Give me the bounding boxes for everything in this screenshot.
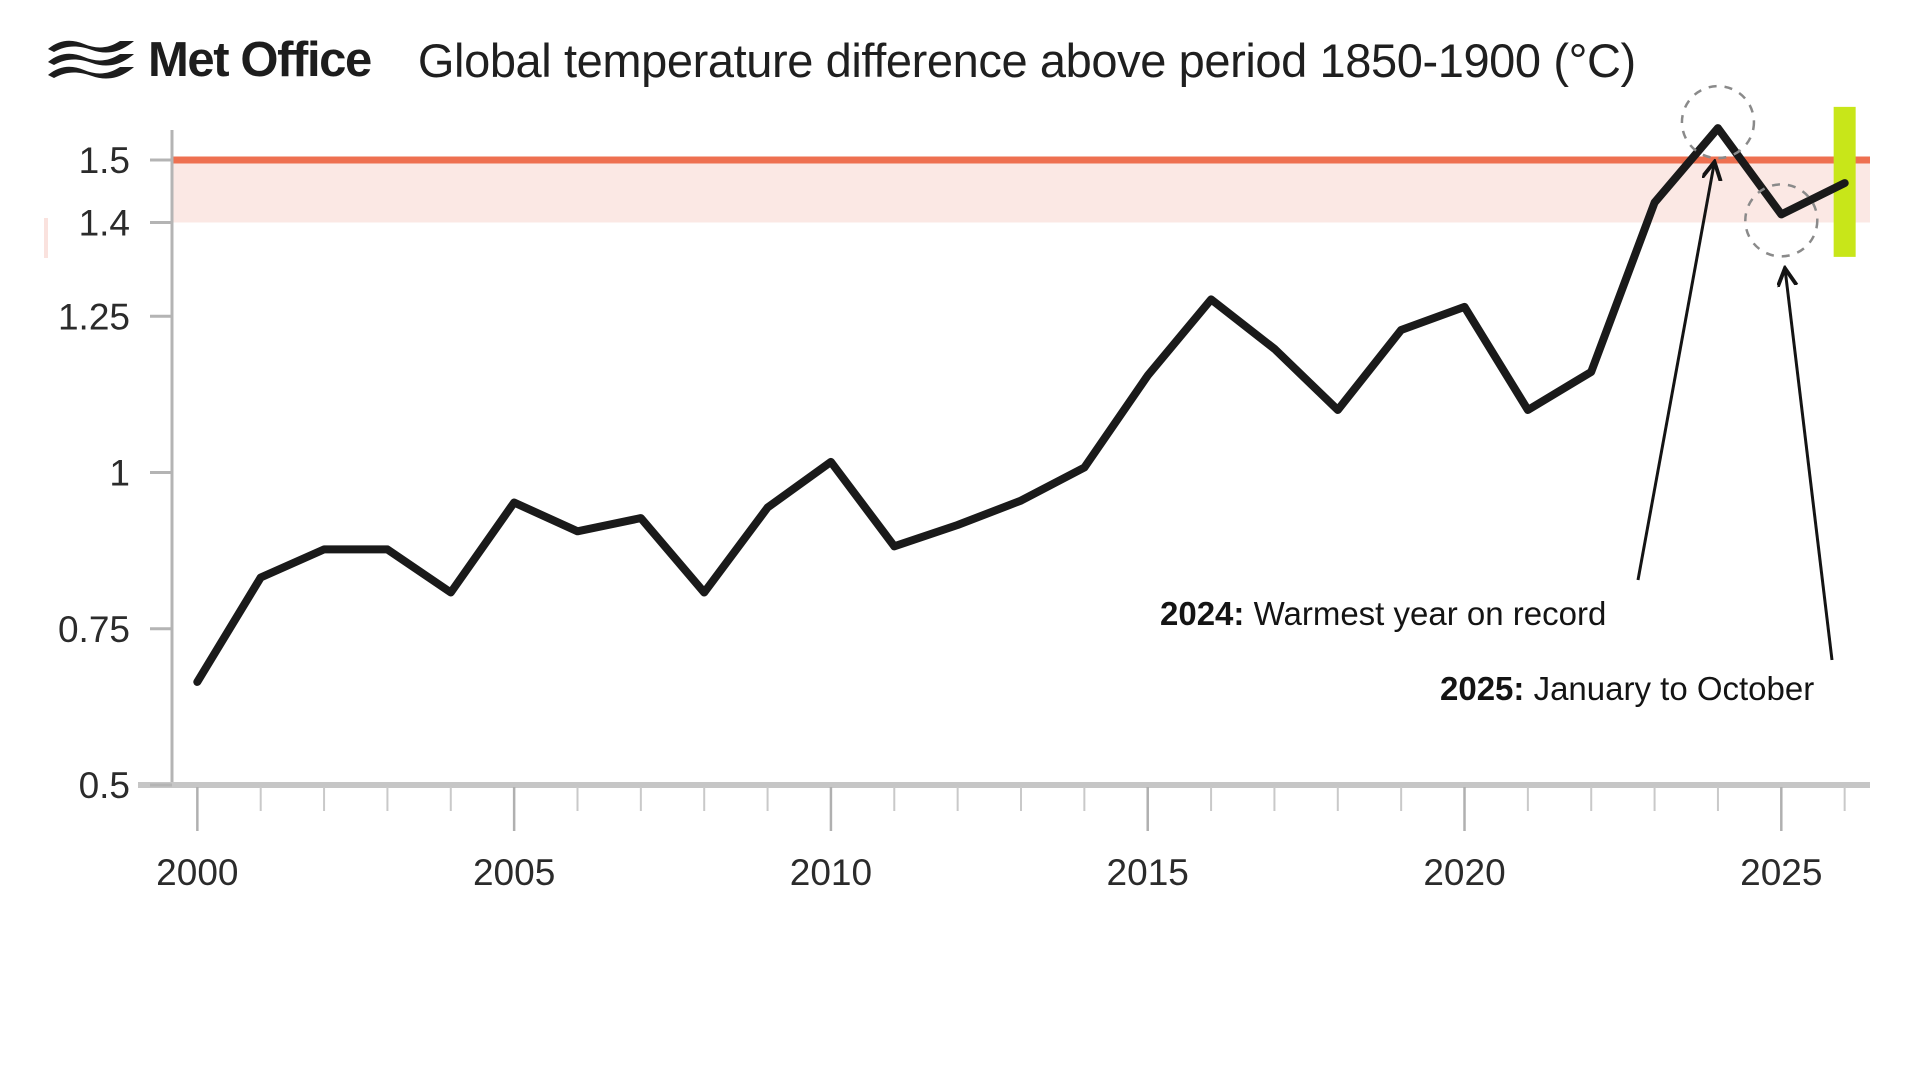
y-tick-label: 1.5: [79, 140, 130, 181]
x-axis-major-ticks: [197, 787, 1781, 831]
leader-line-2025: [1785, 271, 1832, 660]
temperature-line-chart: 0.50.7511.251.41.5 200020052010201520202…: [0, 0, 1920, 1080]
y-axis-ticks: [150, 160, 172, 785]
x-tick-label: 2015: [1107, 852, 1189, 893]
annotation-2025: 2025: January to October: [1440, 670, 1814, 707]
threshold-band: [172, 160, 1870, 223]
x-axis-minor-ticks: [261, 787, 1845, 811]
annotation-2025-year: 2025:: [1440, 670, 1524, 707]
y-tick-label: 1.25: [58, 296, 130, 337]
y-tick-label: 0.5: [79, 765, 130, 806]
y-tick-label: 1.4: [79, 203, 130, 244]
x-tick-label: 2005: [473, 852, 555, 893]
chart-container: 0.50.7511.251.41.5 200020052010201520202…: [0, 0, 1920, 1080]
x-tick-label: 2020: [1423, 852, 1505, 893]
y-axis-tick-labels: 0.50.7511.251.41.5: [58, 140, 130, 806]
annotation-2024-text: Warmest year on record: [1244, 595, 1606, 632]
annotation-2024: 2024: Warmest year on record: [1160, 595, 1606, 632]
y-tick-label: 1: [109, 453, 130, 494]
x-tick-label: 2010: [790, 852, 872, 893]
x-tick-label: 2025: [1740, 852, 1822, 893]
band-edge-sliver: [44, 218, 48, 258]
x-tick-label: 2000: [156, 852, 238, 893]
x-axis-tick-labels: 200020052010201520202025: [156, 852, 1822, 893]
annotation-2025-text: January to October: [1524, 670, 1814, 707]
highlight-circle-2024: [1682, 86, 1754, 158]
annotation-2024-year: 2024:: [1160, 595, 1244, 632]
y-tick-label: 0.75: [58, 609, 130, 650]
